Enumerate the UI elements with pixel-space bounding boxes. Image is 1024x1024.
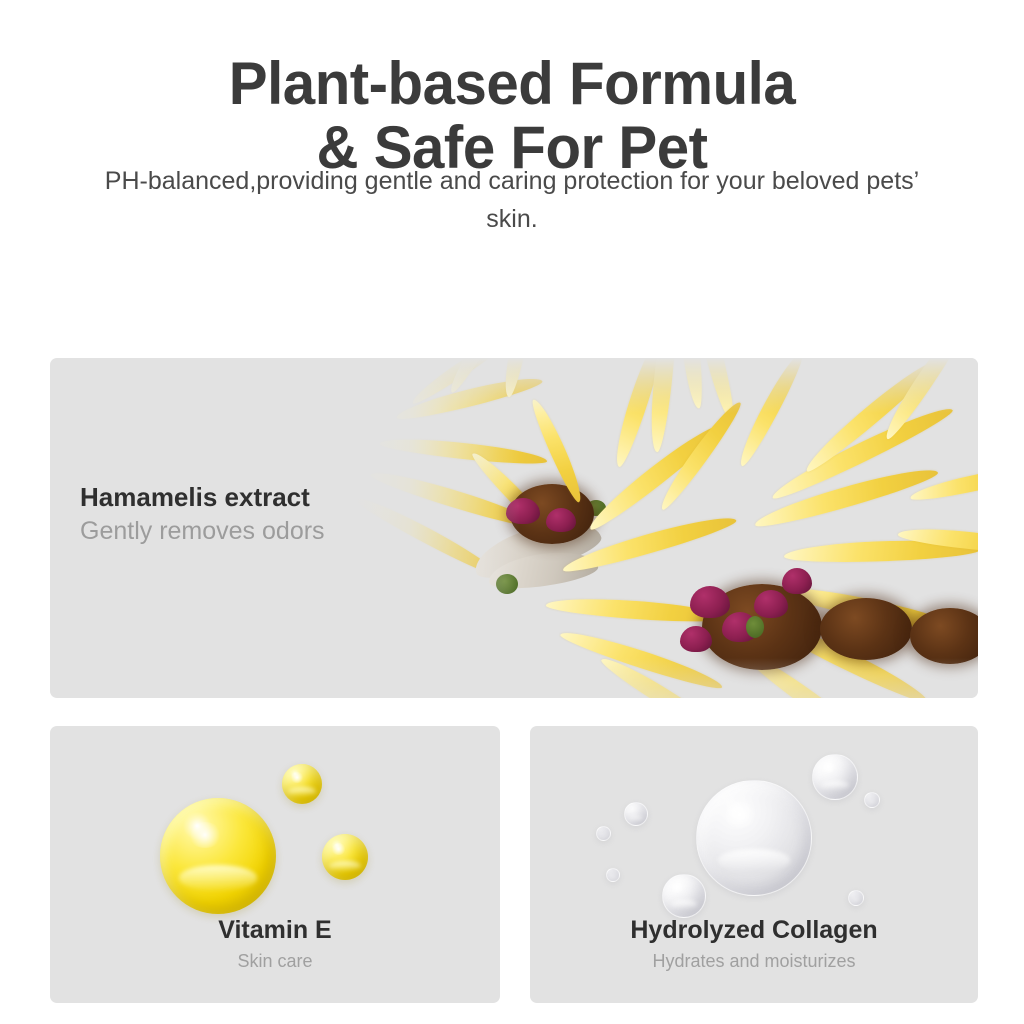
feature-card-hamamelis: Hamamelis extract Gently removes odors — [50, 358, 978, 698]
feature-card-vitamin-e: Vitamin E Skin care — [50, 726, 500, 1003]
image-fade-bottom — [350, 658, 978, 698]
collagen-title: Hydrolyzed Collagen — [530, 914, 978, 947]
hamamelis-label-block: Hamamelis extract Gently removes odors — [80, 480, 325, 548]
vitamin-e-label-block: Vitamin E Skin care — [50, 914, 500, 975]
product-feature-page: Plant-based Formula & Safe For Pet PH-ba… — [0, 0, 1024, 1024]
feature-card-collagen: Hydrolyzed Collagen Hydrates and moistur… — [530, 726, 978, 1003]
hamamelis-subtitle: Gently removes odors — [80, 514, 325, 548]
hamamelis-title: Hamamelis extract — [80, 480, 325, 514]
page-title-line-1: Plant-based Formula — [15, 52, 1008, 116]
page-title: Plant-based Formula & Safe For Pet — [15, 52, 1008, 180]
witch-hazel-flower-image — [350, 358, 978, 698]
image-fade-left — [350, 358, 520, 698]
collagen-label-block: Hydrolyzed Collagen Hydrates and moistur… — [530, 914, 978, 975]
collagen-subtitle: Hydrates and moisturizes — [530, 947, 978, 975]
vitamin-e-title: Vitamin E — [50, 914, 500, 947]
page-subtitle: PH-balanced,providing gentle and caring … — [96, 162, 928, 238]
vitamin-e-subtitle: Skin care — [50, 947, 500, 975]
page-header: Plant-based Formula & Safe For Pet — [0, 52, 1024, 180]
